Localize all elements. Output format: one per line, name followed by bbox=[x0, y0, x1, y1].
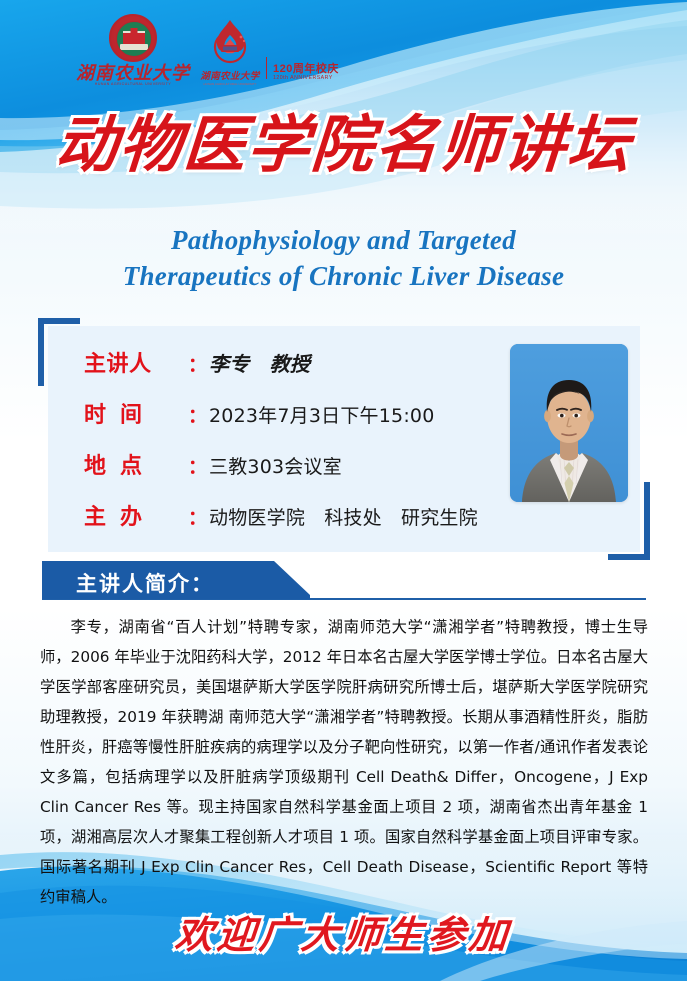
info-row-time: 时间 ： 2023年7月3日下午15:00 bbox=[84, 397, 504, 429]
logo-divider bbox=[266, 57, 267, 79]
university-logo: 湖南农业大学 HUNAN AGRICULTURAL UNIVERSITY bbox=[74, 14, 192, 86]
info-colon-organizer: ： bbox=[188, 503, 207, 530]
anniversary-name-en: HUNAN AGRICULTURAL UNIVERSITY bbox=[203, 82, 256, 86]
bracket-top-left-icon bbox=[38, 318, 80, 386]
info-colon-time: ： bbox=[188, 401, 207, 428]
speaker-portrait bbox=[510, 344, 628, 502]
anniversary-logo: 湖南农业大学 HUNAN AGRICULTURAL UNIVERSITY bbox=[198, 17, 262, 86]
speaker-bio-text: 李专，湖南省“百人计划”特聘专家，湖南师范大学“潇湘学者”特聘教授，博士生导师，… bbox=[40, 612, 648, 912]
info-label-speaker: 主讲人 bbox=[84, 346, 188, 378]
section-banner-label: 主讲人简介： bbox=[76, 568, 214, 598]
anniversary-name-cn: 湖南农业大学 bbox=[200, 68, 259, 82]
page-subtitle: Pathophysiology and Targeted Therapeutic… bbox=[0, 222, 687, 295]
event-info-panel: 主讲人 ： 李专 教授 时间 ： 2023年7月3日下午15:00 地点 ： 三… bbox=[38, 318, 650, 560]
poster-root: 湖南农业大学 HUNAN AGRICULTURAL UNIVERSITY 湖南农… bbox=[0, 0, 687, 981]
info-label-time: 时间 bbox=[84, 397, 188, 429]
info-row-location: 地点 ： 三教303会议室 bbox=[84, 448, 504, 480]
subtitle-line-2: Therapeutics of Chronic Liver Disease bbox=[0, 258, 687, 294]
info-value-time: 2023年7月3日下午15:00 bbox=[209, 401, 435, 428]
section-banner: 主讲人简介： bbox=[42, 561, 342, 599]
info-value-location: 三教303会议室 bbox=[209, 452, 342, 479]
university-name-en: HUNAN AGRICULTURAL UNIVERSITY bbox=[95, 82, 171, 86]
anniversary-badge: 120周年校庆 120th ANNIVERSARY bbox=[273, 63, 339, 86]
info-label-location: 地点 bbox=[84, 448, 188, 480]
anniversary-badge-cn: 120周年校庆 bbox=[273, 63, 339, 75]
info-value-organizer: 动物医学院 科技处 研究生院 bbox=[209, 503, 478, 530]
page-title: 动物医学院名师讲坛 bbox=[0, 114, 687, 176]
university-seal-icon bbox=[109, 14, 157, 62]
info-value-speaker: 李专 教授 bbox=[209, 348, 310, 377]
info-colon-location: ： bbox=[188, 452, 207, 479]
info-colon-speaker: ： bbox=[188, 350, 207, 377]
subtitle-line-1: Pathophysiology and Targeted bbox=[0, 222, 687, 258]
anniversary-badge-en: 120th ANNIVERSARY bbox=[273, 75, 339, 81]
info-row-organizer: 主办 ： 动物医学院 科技处 研究生院 bbox=[84, 499, 504, 531]
event-info-rows: 主讲人 ： 李专 教授 时间 ： 2023年7月3日下午15:00 地点 ： 三… bbox=[84, 346, 504, 550]
anniversary-flame-icon bbox=[208, 17, 252, 67]
logo-row: 湖南农业大学 HUNAN AGRICULTURAL UNIVERSITY 湖南农… bbox=[74, 14, 339, 86]
info-label-organizer: 主办 bbox=[84, 499, 188, 531]
footer-welcome-text: 欢迎广大师生参加 bbox=[0, 904, 687, 959]
university-name-cn: 湖南农业大学 bbox=[76, 64, 190, 82]
info-row-speaker: 主讲人 ： 李专 教授 bbox=[84, 346, 504, 378]
